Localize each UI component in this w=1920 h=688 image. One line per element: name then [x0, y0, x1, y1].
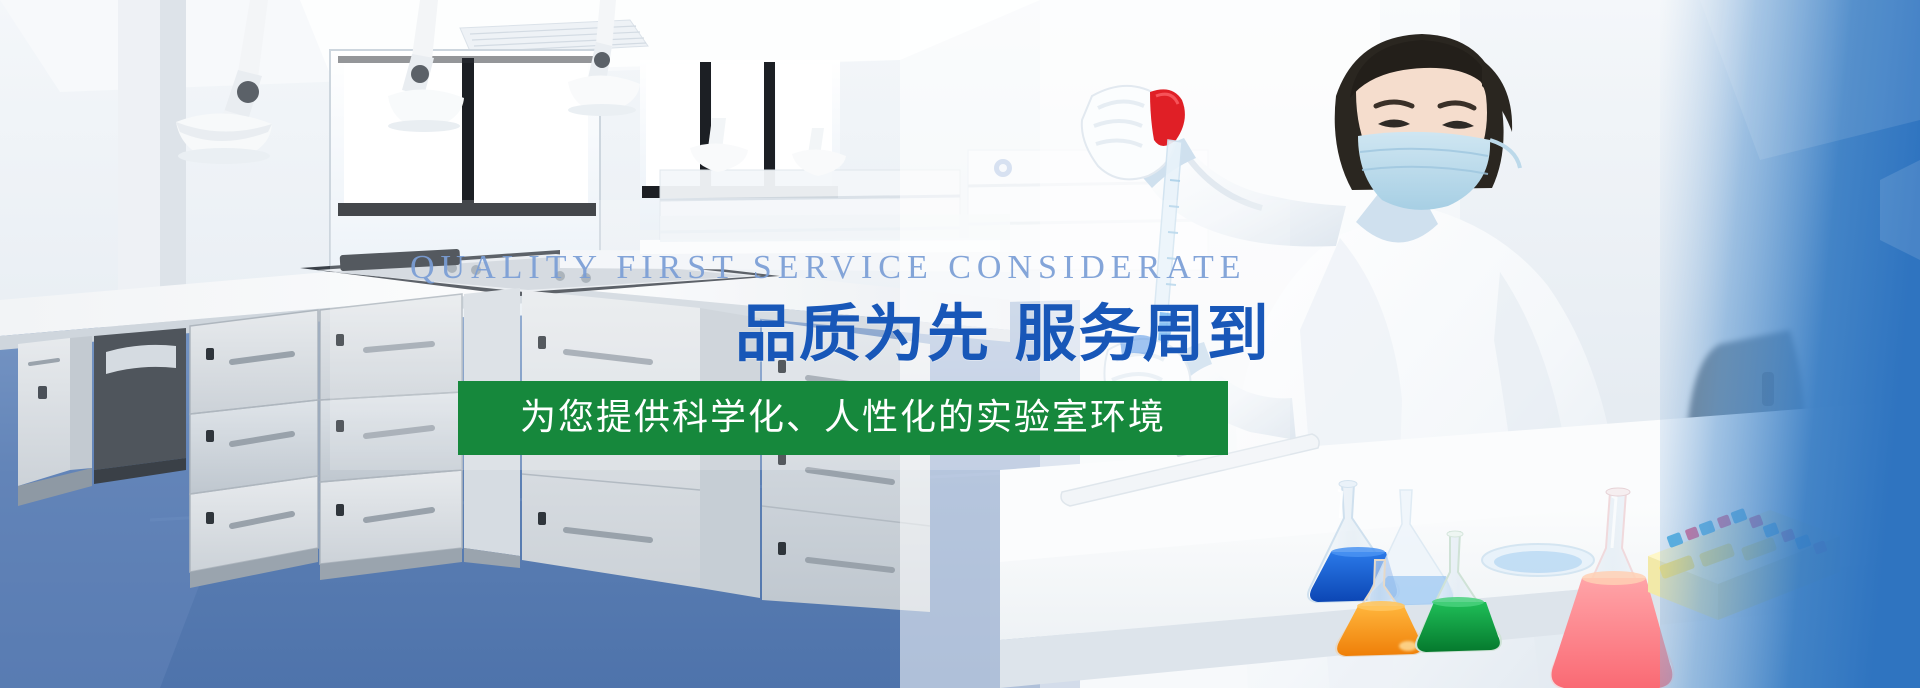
promo-banner: QUALITY FIRST SERVICE CONSIDERATE 品质为先 服… [0, 0, 1920, 688]
structural-pillar [118, 0, 186, 332]
banner-subtitle-text: 为您提供科学化、人性化的实验室环境 [520, 396, 1166, 440]
cabinet-under-sink-dark [94, 328, 186, 484]
pendant-lamp-2 [388, 89, 464, 132]
pendant-lamp-1 [176, 113, 272, 164]
banner-subtitle-bar: 为您提供科学化、人性化的实验室环境 [458, 381, 1228, 455]
banner-eyebrow-english: QUALITY FIRST SERVICE CONSIDERATE [410, 248, 1247, 288]
cabinet-drawers-a [190, 310, 318, 588]
cabinet-left-door [18, 336, 92, 506]
banner-headline: 品质为先 服务周到 [735, 296, 1271, 372]
petri-dish [1482, 544, 1594, 576]
pendant-lamp-3 [568, 75, 640, 116]
